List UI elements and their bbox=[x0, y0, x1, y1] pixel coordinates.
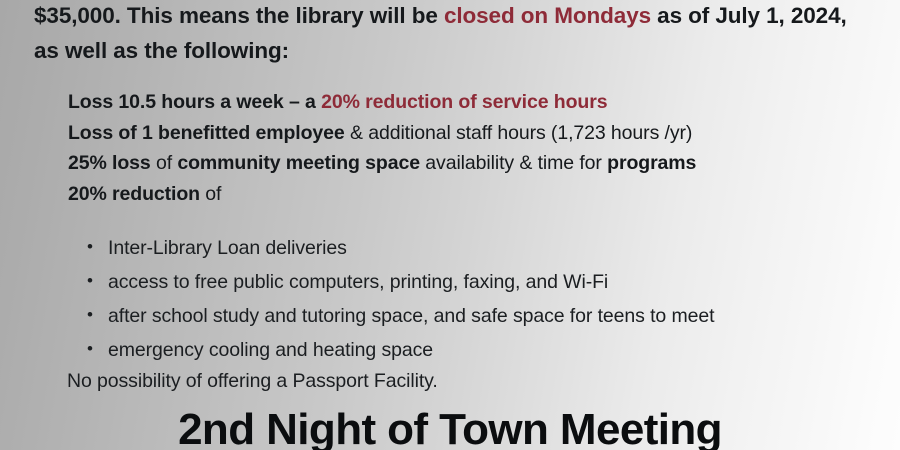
impact-points-list: Loss 10.5 hours a week – a 20% reduction… bbox=[68, 87, 878, 209]
point-light-tail: & additional staff hours (1,723 hours /y… bbox=[345, 122, 693, 144]
bullet-item-interlibrary-loan: Inter-Library Loan deliveries bbox=[82, 231, 892, 265]
bullet-item-after-school-space: after school study and tutoring space, a… bbox=[82, 299, 892, 333]
intro-paragraph: $35,000. This means the library will be … bbox=[34, 0, 874, 68]
point-bold-lead: Loss 10.5 hours a week – a bbox=[68, 91, 321, 113]
point-light-mid-1: of bbox=[151, 152, 178, 174]
impact-point-reduction-of: 20% reduction of bbox=[68, 179, 878, 210]
point-bold-tail: programs bbox=[607, 152, 696, 174]
point-bold-lead: 25% loss bbox=[68, 152, 151, 174]
reduction-bullet-list: Inter-Library Loan deliveries access to … bbox=[82, 231, 892, 367]
bullet-item-public-computers: access to free public computers, printin… bbox=[82, 265, 892, 299]
slide-heading-town-meeting: 2nd Night of Town Meeting bbox=[0, 404, 900, 450]
point-bold-lead: 20% reduction bbox=[68, 183, 200, 205]
intro-text-part-1: $35,000. This means the library will be bbox=[34, 3, 444, 28]
impact-point-meeting-space: 25% loss of community meeting space avai… bbox=[68, 148, 878, 179]
point-bold-lead: Loss of 1 benefitted employee bbox=[68, 122, 345, 144]
point-light-mid-2: availability & time for bbox=[420, 152, 607, 174]
impact-point-employee-loss: Loss of 1 benefitted employee & addition… bbox=[68, 118, 878, 149]
point-light-tail: of bbox=[200, 183, 221, 205]
presentation-slide: $35,000. This means the library will be … bbox=[0, 0, 900, 450]
point-bold-mid: community meeting space bbox=[177, 152, 420, 174]
bullet-item-cooling-heating-space: emergency cooling and heating space bbox=[82, 333, 892, 367]
closing-statement: No possibility of offering a Passport Fa… bbox=[67, 366, 438, 396]
intro-highlight-closed-mondays: closed on Mondays bbox=[444, 3, 651, 28]
impact-point-service-hours: Loss 10.5 hours a week – a 20% reduction… bbox=[68, 87, 878, 118]
point-highlight-reduction: 20% reduction of service hours bbox=[321, 91, 607, 113]
